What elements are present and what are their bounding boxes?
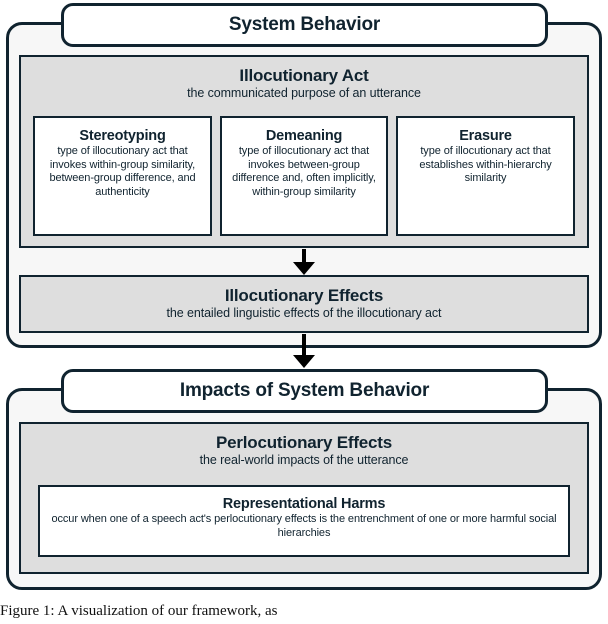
stereotyping-title: Stereotyping xyxy=(35,127,210,145)
representational-harms-description: occur when one of a speech act's perlocu… xyxy=(40,513,568,540)
demeaning-title: Demeaning xyxy=(222,127,386,145)
illocutionary-act-title: Illocutionary Act xyxy=(21,65,587,86)
arrow-shaft xyxy=(302,249,306,263)
arrow-head xyxy=(293,262,315,275)
illocutionary-effects-header: Illocutionary Effects the entailed lingu… xyxy=(21,285,587,321)
erasure-description: type of illocutionary act that establish… xyxy=(398,145,573,186)
impacts-title-label: Impacts of System Behavior xyxy=(180,380,429,402)
erasure-content: Erasure type of illocutionary act that e… xyxy=(398,127,573,186)
framework-diagram: System Behavior Illocutionary Act the co… xyxy=(0,0,608,624)
arrow-head xyxy=(293,355,315,368)
system-behavior-title-tab: System Behavior xyxy=(61,3,548,47)
arrow-illocutionary-act-to-effects-icon xyxy=(293,249,315,275)
figure-caption: Figure 1: A visualization of our framewo… xyxy=(0,602,608,621)
representational-harms-title: Representational Harms xyxy=(40,495,568,513)
perlocutionary-effects-subtitle: the real-world impacts of the utterance xyxy=(21,453,587,468)
demeaning-description: type of illocutionary act that invokes b… xyxy=(222,145,386,199)
perlocutionary-effects-header: Perlocutionary Effects the real-world im… xyxy=(21,432,587,468)
illocutionary-act-type-demeaning: Demeaning type of illocutionary act that… xyxy=(220,116,388,236)
representational-harms-box: Representational Harms occur when one of… xyxy=(38,485,570,557)
illocutionary-effects-title: Illocutionary Effects xyxy=(21,285,587,306)
erasure-title: Erasure xyxy=(398,127,573,145)
illocutionary-effects-subtitle: the entailed linguistic effects of the i… xyxy=(21,306,587,321)
illocutionary-act-type-stereotyping: Stereotyping type of illocutionary act t… xyxy=(33,116,212,236)
arrow-shaft xyxy=(302,334,306,356)
illocutionary-act-header: Illocutionary Act the communicated purpo… xyxy=(21,65,587,101)
representational-harms-content: Representational Harms occur when one of… xyxy=(40,495,568,540)
perlocutionary-effects-title: Perlocutionary Effects xyxy=(21,432,587,453)
illocutionary-effects-box: Illocutionary Effects the entailed lingu… xyxy=(19,275,589,333)
illocutionary-act-subtitle: the communicated purpose of an utterance xyxy=(21,86,587,101)
demeaning-content: Demeaning type of illocutionary act that… xyxy=(222,127,386,199)
stereotyping-description: type of illocutionary act that invokes w… xyxy=(35,145,210,199)
system-behavior-title-label: System Behavior xyxy=(229,14,380,36)
illocutionary-act-type-erasure: Erasure type of illocutionary act that e… xyxy=(396,116,575,236)
impacts-title-tab: Impacts of System Behavior xyxy=(61,369,548,413)
stereotyping-content: Stereotyping type of illocutionary act t… xyxy=(35,127,210,199)
arrow-system-behavior-to-impacts-icon xyxy=(293,334,315,370)
